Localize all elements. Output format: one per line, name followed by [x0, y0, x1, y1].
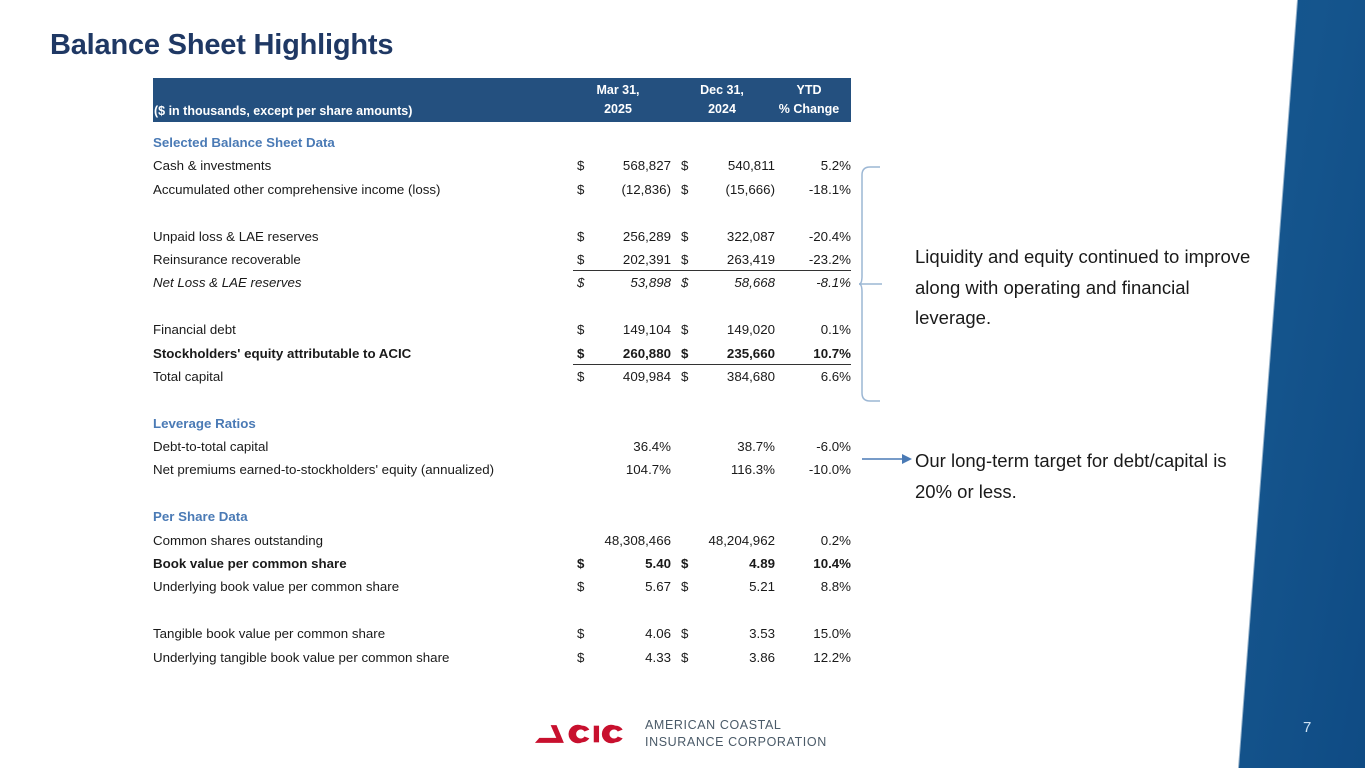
row-currency-1: $ [577, 552, 589, 575]
arrow-right-icon [862, 450, 914, 468]
annotation-liquidity-note: Liquidity and equity continued to improv… [915, 242, 1255, 334]
col2-line2: 2024 [669, 100, 775, 119]
row-value-1: 53,898 [589, 271, 671, 294]
table-row: Debt-to-total capital 36.4% 38.7% -6.0% [153, 435, 851, 458]
row-currency-1: $ [577, 318, 589, 341]
table-header-col-ytd-change: YTD % Change [767, 78, 851, 119]
row-label: Accumulated other comprehensive income (… [153, 178, 441, 201]
row-value-2: 263,419 [693, 248, 775, 271]
logo-line-1: AMERICAN COASTAL [645, 717, 827, 734]
spacer-row [153, 482, 851, 505]
row-label: Underlying tangible book value per commo… [153, 646, 449, 669]
row-currency-1: $ [577, 248, 589, 271]
row-currency-2: $ [681, 248, 693, 271]
row-label: Net premiums earned-to-stockholders' equ… [153, 458, 494, 481]
row-label: Tangible book value per common share [153, 622, 385, 645]
row-label: Debt-to-total capital [153, 435, 268, 458]
row-label: Net Loss & LAE reserves [153, 271, 302, 294]
spacer-row [153, 388, 851, 411]
table-header-col-dec31-2024: Dec 31, 2024 [669, 78, 775, 119]
row-value-change: 15.0% [773, 622, 851, 645]
row-currency-2: $ [681, 154, 693, 177]
logo-wordmark-text: AMERICAN COASTAL INSURANCE CORPORATION [645, 717, 827, 751]
row-value-change: 10.4% [773, 552, 851, 575]
curly-brace-icon [858, 166, 884, 402]
row-currency-2: $ [681, 178, 693, 201]
table-header-col-mar31-2025: Mar 31, 2025 [565, 78, 671, 119]
row-currency-2: $ [681, 622, 693, 645]
row-value-change: -20.4% [773, 225, 851, 248]
logo-line-2: INSURANCE CORPORATION [645, 734, 827, 751]
row-value-1: 4.06 [589, 622, 671, 645]
spacer-row [153, 295, 851, 318]
row-value-2: 322,087 [693, 225, 775, 248]
row-value-1: 202,391 [589, 248, 671, 271]
page-title: Balance Sheet Highlights [50, 29, 393, 62]
row-value-1: 5.67 [589, 575, 671, 598]
row-value-1: 48,308,466 [565, 529, 671, 552]
row-label: Unpaid loss & LAE reserves [153, 225, 319, 248]
spacer-row [153, 599, 851, 622]
row-value-change: 0.1% [773, 318, 851, 341]
row-value-1: 256,289 [589, 225, 671, 248]
table-row: Underlying book value per common share $… [153, 575, 851, 598]
row-value-change: -10.0% [773, 458, 851, 481]
row-value-2: 116.3% [693, 458, 775, 481]
table-row: Accumulated other comprehensive income (… [153, 178, 851, 201]
row-currency-2: $ [681, 552, 693, 575]
row-value-1: 568,827 [589, 154, 671, 177]
table-header-caption: ($ in thousands, except per share amount… [154, 104, 412, 118]
table-row-total: Total capital $ 409,984 $ 384,680 6.6% [153, 365, 851, 388]
row-value-change: 0.2% [773, 529, 851, 552]
row-value-2: 540,811 [693, 154, 775, 177]
table-row: Cash & investments $ 568,827 $ 540,811 5… [153, 154, 851, 177]
row-value-1: 104.7% [589, 458, 671, 481]
col1-line1: Mar 31, [565, 78, 671, 100]
row-value-1: (12,836) [589, 178, 671, 201]
section-label-selected-balance-sheet-data: Selected Balance Sheet Data [153, 131, 851, 154]
table-row-highlight: Book value per common share $ 5.40 $ 4.8… [153, 552, 851, 575]
table-row: Financial debt $ 149,104 $ 149,020 0.1% [153, 318, 851, 341]
row-currency-1: $ [577, 646, 589, 669]
row-value-2: 235,660 [693, 342, 775, 365]
row-currency-2: $ [681, 365, 693, 388]
table-header-row: ($ in thousands, except per share amount… [153, 78, 851, 122]
row-value-1: 149,104 [589, 318, 671, 341]
balance-sheet-table: ($ in thousands, except per share amount… [153, 78, 851, 669]
row-currency-2: $ [681, 575, 693, 598]
acic-logo-icon [533, 717, 631, 751]
row-currency-1: $ [577, 342, 589, 365]
row-currency-1: $ [577, 178, 589, 201]
row-value-2: 3.53 [693, 622, 775, 645]
table-row: Common shares outstanding 48,308,466 48,… [153, 529, 851, 552]
row-value-1: 260,880 [589, 342, 671, 365]
page-number: 7 [1303, 719, 1312, 736]
row-label: Common shares outstanding [153, 529, 323, 552]
row-label: Total capital [153, 365, 223, 388]
row-value-change: 6.6% [773, 365, 851, 388]
row-currency-1: $ [577, 575, 589, 598]
row-value-1: 4.33 [589, 646, 671, 669]
table-row: Net premiums earned-to-stockholders' equ… [153, 458, 851, 481]
row-value-1: 409,984 [589, 365, 671, 388]
row-currency-2: $ [681, 271, 693, 294]
row-value-2: 3.86 [693, 646, 775, 669]
row-value-change: -18.1% [773, 178, 851, 201]
row-value-2: 4.89 [693, 552, 775, 575]
row-label: Financial debt [153, 318, 236, 341]
section-label-leverage-ratios: Leverage Ratios [153, 412, 851, 435]
row-value-change: -6.0% [773, 435, 851, 458]
row-currency-1: $ [577, 154, 589, 177]
row-label: Reinsurance recoverable [153, 248, 301, 271]
row-value-change: -8.1% [773, 271, 851, 294]
row-label: Cash & investments [153, 154, 271, 177]
footer-logo: AMERICAN COASTAL INSURANCE CORPORATION [533, 714, 827, 754]
row-label: Underlying book value per common share [153, 575, 399, 598]
row-currency-2: $ [681, 225, 693, 248]
col2-line1: Dec 31, [669, 78, 775, 100]
table-row: Reinsurance recoverable $ 202,391 $ 263,… [153, 248, 851, 271]
row-label: Book value per common share [153, 552, 347, 575]
row-currency-2: $ [681, 342, 693, 365]
row-currency-2: $ [681, 646, 693, 669]
row-value-2: (15,666) [693, 178, 775, 201]
row-value-change: 10.7% [773, 342, 851, 365]
row-value-change: -23.2% [773, 248, 851, 271]
row-value-2: 149,020 [693, 318, 775, 341]
row-value-1: 36.4% [589, 435, 671, 458]
section-label-per-share-data: Per Share Data [153, 505, 851, 528]
row-currency-1: $ [577, 271, 589, 294]
row-currency-2: $ [681, 318, 693, 341]
table-body: Selected Balance Sheet Data Cash & inves… [153, 131, 851, 669]
table-row: Underlying tangible book value per commo… [153, 646, 851, 669]
col1-line2: 2025 [565, 100, 671, 119]
col3-line2: % Change [767, 100, 851, 119]
row-value-2: 48,204,962 [669, 529, 775, 552]
row-label: Stockholders' equity attributable to ACI… [153, 342, 411, 365]
row-value-2: 58,668 [693, 271, 775, 294]
table-row: Tangible book value per common share $ 4… [153, 622, 851, 645]
col3-line1: YTD [767, 78, 851, 100]
annotation-leverage-target-note: Our long-term target for debt/capital is… [915, 446, 1245, 507]
row-currency-1: $ [577, 225, 589, 248]
row-value-2: 384,680 [693, 365, 775, 388]
row-currency-1: $ [577, 365, 589, 388]
table-row-subtotal: Net Loss & LAE reserves $ 53,898 $ 58,66… [153, 271, 851, 294]
row-value-2: 5.21 [693, 575, 775, 598]
slide-canvas: 7 Balance Sheet Highlights ($ in thousan… [0, 0, 1365, 768]
table-row: Unpaid loss & LAE reserves $ 256,289 $ 3… [153, 225, 851, 248]
row-value-1: 5.40 [589, 552, 671, 575]
table-row-highlight: Stockholders' equity attributable to ACI… [153, 342, 851, 365]
spacer-row [153, 201, 851, 224]
row-value-2: 38.7% [693, 435, 775, 458]
row-value-change: 12.2% [773, 646, 851, 669]
row-currency-1: $ [577, 622, 589, 645]
row-value-change: 5.2% [773, 154, 851, 177]
row-value-change: 8.8% [773, 575, 851, 598]
